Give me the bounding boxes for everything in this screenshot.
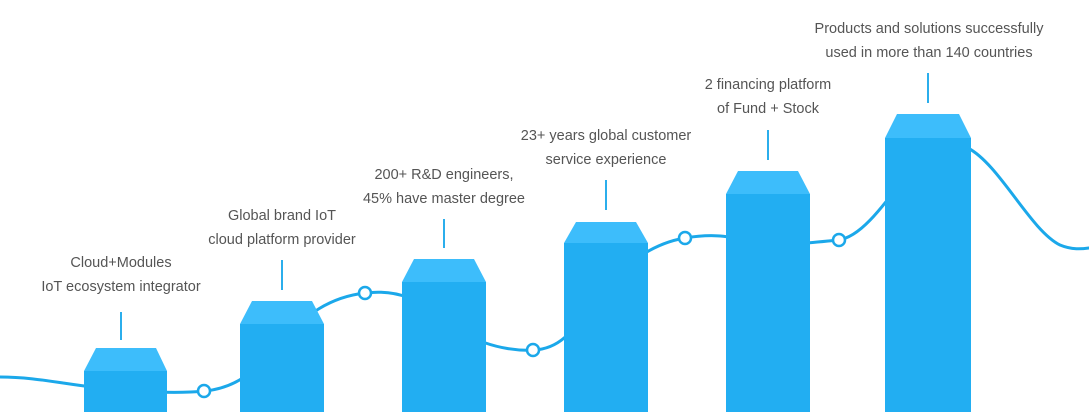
trend-marker-4 bbox=[679, 232, 691, 244]
bar-group-1 bbox=[84, 312, 167, 412]
trend-marker-3 bbox=[527, 344, 539, 356]
milestone-label-3-line2: 45% have master degree bbox=[339, 187, 549, 211]
milestone-label-1-line1: Cloud+Modules bbox=[21, 251, 221, 275]
trend-marker-5 bbox=[833, 234, 845, 246]
milestone-label-6: Products and solutions successfully used… bbox=[789, 17, 1069, 65]
bar-group-3 bbox=[402, 219, 486, 412]
milestone-label-5: 2 financing platform of Fund + Stock bbox=[668, 73, 868, 121]
bar-body-4 bbox=[564, 243, 648, 412]
milestone-label-2: Global brand IoT cloud platform provider bbox=[182, 204, 382, 252]
bar-group-6 bbox=[885, 73, 971, 412]
bar-top-face-3 bbox=[402, 259, 486, 282]
milestone-label-5-line2: of Fund + Stock bbox=[668, 97, 868, 121]
bar-body-3 bbox=[402, 282, 486, 412]
bar-body-6 bbox=[885, 138, 971, 412]
milestone-label-5-line1: 2 financing platform bbox=[668, 73, 868, 97]
trend-marker-1 bbox=[198, 385, 210, 397]
bar-top-face-4 bbox=[564, 222, 648, 243]
bar-top-face-2 bbox=[240, 301, 324, 324]
infographic-milestone-chart: Cloud+Modules IoT ecosystem integrator G… bbox=[0, 0, 1089, 412]
bar-body-5 bbox=[726, 194, 810, 412]
milestone-label-6-line2: used in more than 140 countries bbox=[789, 41, 1069, 65]
trend-marker-2 bbox=[359, 287, 371, 299]
bar-top-face-5 bbox=[726, 171, 810, 194]
milestone-label-1-line2: IoT ecosystem integrator bbox=[21, 275, 221, 299]
milestone-label-4-line2: service experience bbox=[486, 148, 726, 172]
bar-body-1 bbox=[84, 371, 167, 412]
bar-group-2 bbox=[240, 260, 324, 412]
bar-group-5 bbox=[726, 130, 810, 412]
milestone-label-1: Cloud+Modules IoT ecosystem integrator bbox=[21, 251, 221, 299]
milestone-label-2-line2: cloud platform provider bbox=[182, 228, 382, 252]
bar-body-2 bbox=[240, 324, 324, 412]
milestone-label-4: 23+ years global customer service experi… bbox=[486, 124, 726, 172]
bar-group-4 bbox=[564, 180, 648, 412]
bar-top-face-6 bbox=[885, 114, 971, 138]
bar-top-face-1 bbox=[84, 348, 167, 371]
milestone-label-6-line1: Products and solutions successfully bbox=[789, 17, 1069, 41]
milestone-label-4-line1: 23+ years global customer bbox=[486, 124, 726, 148]
